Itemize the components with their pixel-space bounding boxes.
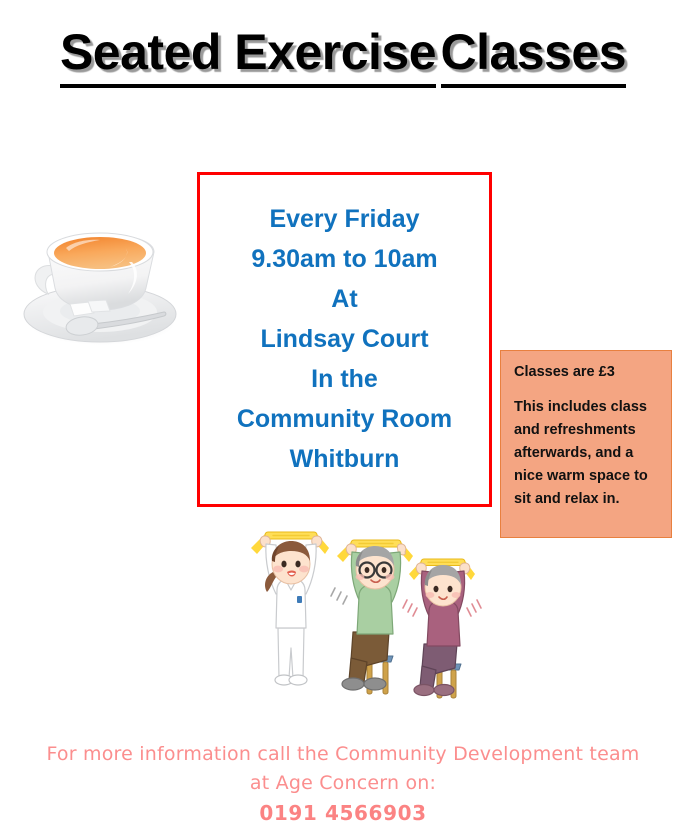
class-details-box: Every Friday 9.30am to 10am At Lindsay C… bbox=[197, 172, 492, 507]
footer-phone-number: 0191 4566903 bbox=[0, 798, 686, 828]
detail-line-2: 9.30am to 10am bbox=[251, 239, 437, 279]
title-line-2: Classes bbox=[441, 21, 627, 88]
title-line-1: Seated Exercise bbox=[60, 21, 436, 88]
footer-line-2: at Age Concern on: bbox=[0, 769, 686, 798]
detail-line-3: At bbox=[331, 279, 357, 319]
exercise-group-illustration bbox=[243, 528, 491, 703]
detail-line-1: Every Friday bbox=[269, 199, 419, 239]
poster-title: Seated Exercise Classes bbox=[0, 14, 686, 88]
price-heading: Classes are £3 bbox=[514, 363, 660, 382]
poster-footer: For more information call the Community … bbox=[0, 740, 686, 828]
poster-canvas: Seated Exercise Classes bbox=[0, 0, 686, 832]
detail-line-6: Community Room bbox=[237, 399, 452, 439]
price-description: This includes class and refreshments aft… bbox=[514, 396, 660, 511]
footer-line-1: For more information call the Community … bbox=[0, 740, 686, 769]
detail-line-7: Whitburn bbox=[290, 439, 400, 479]
price-info-box: Classes are £3 This includes class and r… bbox=[500, 350, 672, 538]
teacup-illustration bbox=[14, 212, 186, 350]
detail-line-4: Lindsay Court bbox=[260, 319, 428, 359]
detail-line-5: In the bbox=[311, 359, 378, 399]
